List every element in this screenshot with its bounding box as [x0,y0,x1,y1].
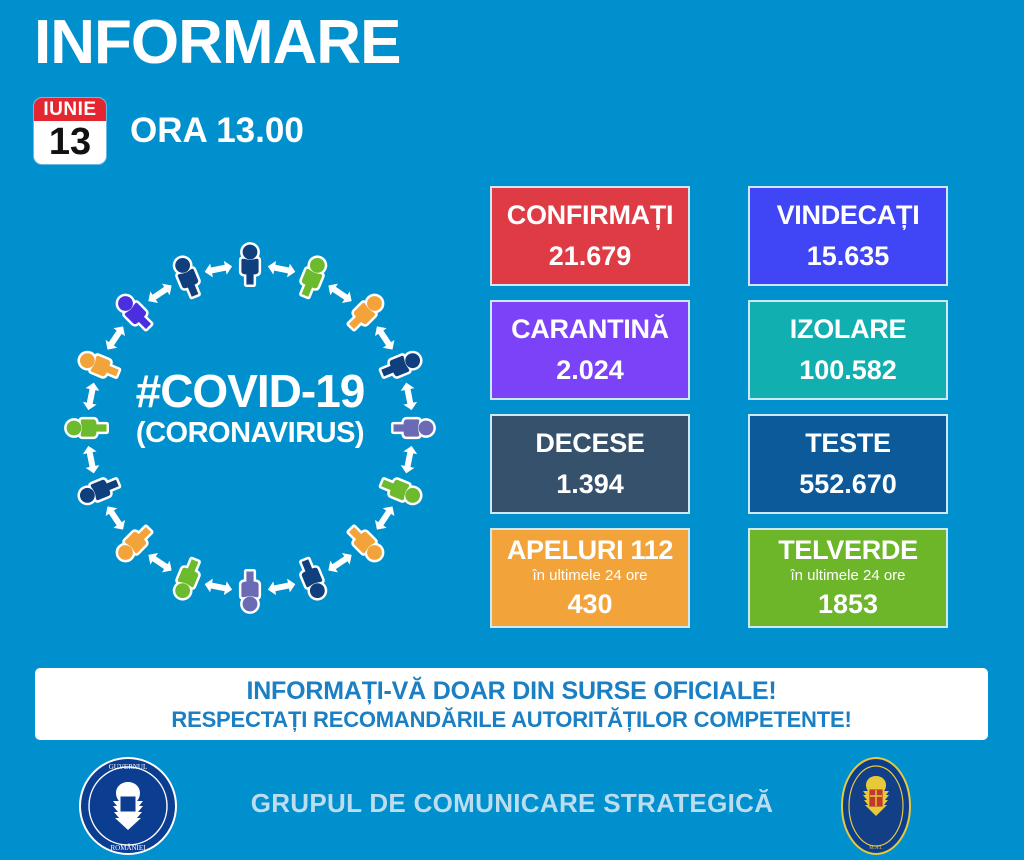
calendar-day: 13 [34,121,106,164]
stat-label: TESTE [805,427,891,459]
stat-label: CARANTINĂ [511,313,669,345]
stats-row: APELURI 112 în ultimele 24 ore 430 TELVE… [490,528,948,628]
stat-card-izolare: IZOLARE 100.582 [748,300,948,400]
stat-label: CONFIRMAȚI [507,199,673,231]
stat-card-telverde: TELVERDE în ultimele 24 ore 1853 [748,528,948,628]
stat-sublabel: în ultimele 24 ore [532,567,647,585]
page-title: INFORMARE [34,12,400,74]
svg-text:ROMÂNIEI: ROMÂNIEI [111,844,147,852]
stat-value: 21.679 [549,239,632,273]
stat-value: 15.635 [807,239,890,273]
stat-value: 430 [567,587,612,621]
stat-label: TELVERDE [778,534,918,566]
stats-row: DECESE 1.394 TESTE 552.670 [490,414,948,514]
date-bar: IUNIE 13 ORA 13.00 [34,98,304,164]
stat-label: IZOLARE [790,313,906,345]
stat-card-apeluri-112: APELURI 112 în ultimele 24 ore 430 [490,528,690,628]
departamentul-pentru-situatii-de-urgenta-seal-icon: M.A.I. [826,756,926,856]
infographic-canvas: INFORMARE IUNIE 13 ORA 13.00 #COVID-19 (… [0,0,1024,860]
stat-label: VINDECAȚI [777,199,920,231]
svg-text:GUVERNUL: GUVERNUL [109,763,148,771]
svg-text:M.A.I.: M.A.I. [869,846,882,851]
stat-label: APELURI 112 [507,534,673,566]
hour-label: ORA 13.00 [130,111,304,151]
stat-sublabel: în ultimele 24 ore [790,567,905,585]
stat-card-carantina: CARANTINĂ 2.024 [490,300,690,400]
calendar-icon: IUNIE 13 [34,98,106,164]
people-distancing-circle-icon [40,218,460,638]
stat-value: 1853 [818,587,878,621]
stat-card-vindecati: VINDECAȚI 15.635 [748,186,948,286]
stat-value: 100.582 [799,353,897,387]
stat-label: DECESE [535,427,644,459]
banner-line1: INFORMAȚI-VĂ DOAR DIN SURSE OFICIALE! [246,676,776,706]
official-sources-banner: INFORMAȚI-VĂ DOAR DIN SURSE OFICIALE! RE… [35,668,988,740]
covid-distancing-graphic: #COVID-19 (CORONAVIRUS) [40,218,460,638]
stats-row: CARANTINĂ 2.024 IZOLARE 100.582 [490,300,948,400]
stat-value: 1.394 [556,467,624,501]
banner-line2: RESPECTAȚI RECOMANDĂRILE AUTORITĂȚILOR C… [171,706,851,733]
stat-value: 2.024 [556,353,624,387]
stat-card-teste: TESTE 552.670 [748,414,948,514]
stat-card-decese: DECESE 1.394 [490,414,690,514]
footer: GUVERNUL ROMÂNIEI GRUPUL DE COMUNICARE S… [0,752,1024,860]
stat-card-confirmati: CONFIRMAȚI 21.679 [490,186,690,286]
stats-grid: CONFIRMAȚI 21.679 VINDECAȚI 15.635 CARAN… [490,186,948,642]
stat-value: 552.670 [799,467,897,501]
calendar-month: IUNIE [34,98,106,121]
stats-row: CONFIRMAȚI 21.679 VINDECAȚI 15.635 [490,186,948,286]
